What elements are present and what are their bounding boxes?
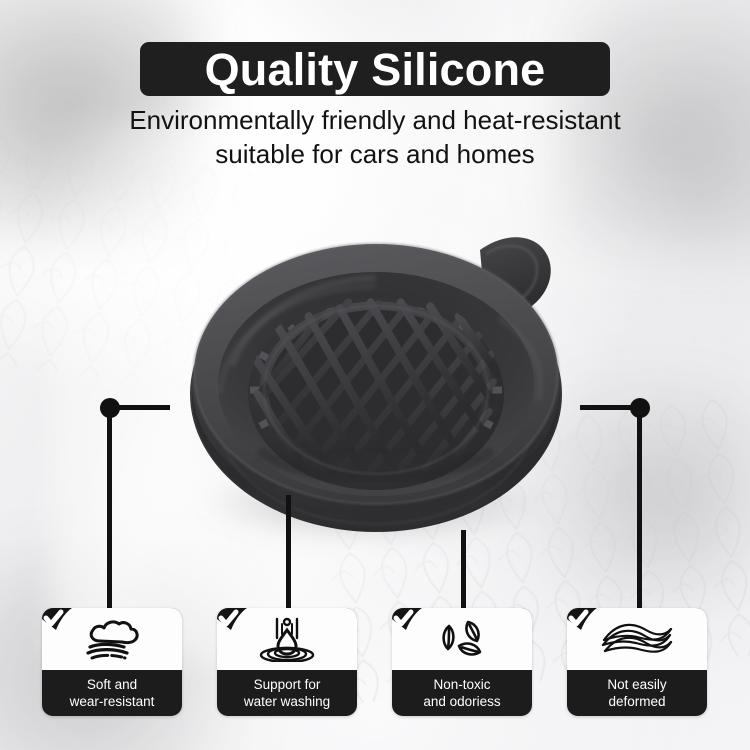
- feature-icon-area: [217, 608, 357, 670]
- feature-icon-area: [567, 608, 707, 670]
- product-image: [180, 198, 580, 553]
- feature-label-line-1: Not easily: [607, 676, 666, 693]
- feature-icon-area: [392, 608, 532, 670]
- feature-label-line-1: Support for: [254, 676, 321, 693]
- feature-card-non-toxic[interactable]: Non-toxic and odoriess: [392, 608, 532, 716]
- cloud-soft-icon: [80, 617, 144, 661]
- connector-line-left-vertical: [107, 405, 112, 610]
- connector-line-right-horizontal: [580, 405, 640, 410]
- feature-icon-area: [42, 608, 182, 670]
- connector-line-left-horizontal: [110, 405, 170, 410]
- product-infographic: Quality Silicone Environmentally friendl…: [0, 0, 750, 750]
- three-leaves-icon: [435, 616, 489, 662]
- product-drop-shadow: [208, 466, 538, 540]
- feature-card-water-washing[interactable]: Support for water washing: [217, 608, 357, 716]
- feature-label-line-1: Soft and: [87, 676, 137, 693]
- feature-card-soft-wear-resistant[interactable]: Soft and wear-resistant: [42, 608, 182, 716]
- feature-label-line-2: wear-resistant: [70, 693, 155, 710]
- feature-label: Soft and wear-resistant: [42, 670, 182, 716]
- subtitle-line-2: suitable for cars and homes: [0, 137, 750, 171]
- connector-line-mid-right-vertical: [461, 530, 466, 610]
- feature-label-line-2: deformed: [608, 693, 665, 710]
- feature-label: Not easily deformed: [567, 670, 707, 716]
- wavy-sheets-icon: [599, 618, 675, 660]
- connector-line-mid-left-vertical: [286, 495, 291, 610]
- feature-label-line-2: and odoriess: [423, 693, 500, 710]
- feature-card-not-deformed[interactable]: Not easily deformed: [567, 608, 707, 716]
- subtitle: Environmentally friendly and heat-resist…: [0, 103, 750, 171]
- feature-label-line-2: water washing: [244, 693, 330, 710]
- subtitle-line-1: Environmentally friendly and heat-resist…: [129, 105, 620, 135]
- title-badge: Quality Silicone: [140, 42, 610, 96]
- feature-label: Non-toxic and odoriess: [392, 670, 532, 716]
- feature-label: Support for water washing: [217, 670, 357, 716]
- feature-label-line-1: Non-toxic: [433, 676, 490, 693]
- page-title: Quality Silicone: [205, 47, 546, 92]
- water-drop-ripple-icon: [259, 616, 315, 662]
- connector-line-right-vertical: [637, 405, 642, 610]
